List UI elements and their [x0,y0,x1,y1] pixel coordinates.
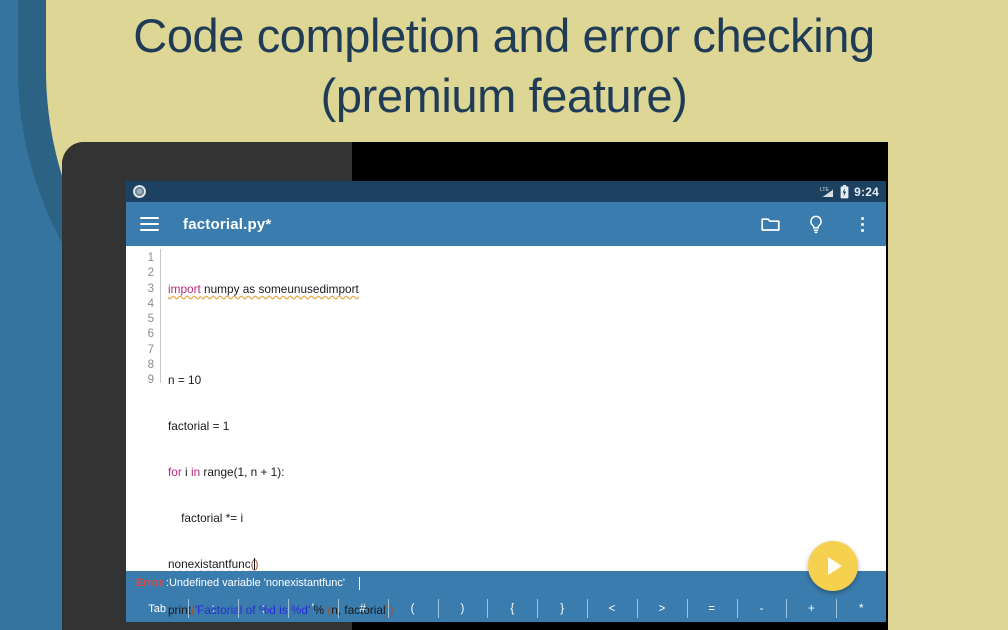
symbol-key-toolbar[interactable]: Tab : ; ' # ( ) { } < > = - + * [126,595,886,622]
camera-icon [133,185,146,198]
keyword-for: for [168,465,182,479]
app-bar-title: factorial.py* [183,216,271,233]
key-hash[interactable]: # [338,595,388,622]
lte-signal-icon: LTE [820,185,835,198]
code-line-6: factorial *= i [168,511,886,526]
folder-icon[interactable] [760,214,780,234]
undefined-function-token: nonexistantfunc [168,557,251,571]
headline-line-2: (premium feature) [0,66,1008,126]
code-line-1: import numpy as someunusedimport [168,282,886,297]
code-line-1-rest: numpy as someunusedimport [201,282,359,296]
play-icon [828,557,842,575]
screenshot-stage: Code completion and error checking (prem… [0,0,1008,630]
key-greater-than[interactable]: > [637,595,687,622]
error-bar-caret [359,577,360,590]
page-title: Code completion and error checking (prem… [0,6,1008,126]
line-number: 9 [126,373,154,388]
line-number-gutter: 1 2 3 4 5 6 7 8 9 [126,246,160,571]
code-line-7: nonexistantfunc() [168,557,886,572]
app-bar: factorial.py* [126,202,886,246]
code-text-area[interactable]: import numpy as someunusedimport ​ n = 1… [161,246,886,571]
key-minus[interactable]: - [737,595,787,622]
code-line-5: for i in range(1, n + 1): [168,465,886,480]
code-line-3: n = 10 [168,373,886,388]
error-status-bar: Error : Undefined variable 'nonexistantf… [126,571,886,595]
key-equals[interactable]: = [687,595,737,622]
headline-line-1: Code completion and error checking [133,9,874,62]
hamburger-menu-icon[interactable] [140,217,159,231]
key-brace-close[interactable]: } [537,595,587,622]
line-number: 1 [126,251,154,266]
line-number: 3 [126,282,154,297]
line-number: 2 [126,266,154,281]
key-apostrophe[interactable]: ' [288,595,338,622]
battery-charging-icon [840,185,849,199]
key-paren-open[interactable]: ( [388,595,438,622]
status-bar: LTE 9:24 [126,181,886,202]
key-semicolon[interactable]: ; [238,595,288,622]
key-paren-close[interactable]: ) [438,595,488,622]
key-brace-open[interactable]: { [487,595,537,622]
code-editor[interactable]: 1 2 3 4 5 6 7 8 9 import numpy as someun… [126,246,886,571]
background-khaki-right [888,0,1008,630]
key-plus[interactable]: + [786,595,836,622]
error-message: Undefined variable 'nonexistantfunc' [169,577,345,589]
line-number: 7 [126,343,154,358]
key-colon[interactable]: : [188,595,238,622]
key-asterisk[interactable]: * [836,595,886,622]
code-line-4: factorial = 1 [168,419,886,434]
line-number: 4 [126,297,154,312]
lightbulb-icon[interactable] [806,214,826,234]
error-label: Error [136,577,163,589]
keyword-in: in [191,465,200,479]
app-bar-actions [760,214,872,234]
code-line-5-var: i [182,465,191,479]
line-number: 8 [126,358,154,373]
code-line-5-rest: range(1, n + 1): [200,465,284,479]
line-number: 6 [126,327,154,342]
overflow-menu-icon[interactable] [852,214,872,234]
device-screen: LTE 9:24 factor [126,181,886,622]
keyword-import: import [168,282,201,296]
status-bar-right: LTE 9:24 [820,185,879,199]
paren-close: ) [255,557,259,571]
key-less-than[interactable]: < [587,595,637,622]
key-tab[interactable]: Tab [126,595,188,622]
status-bar-clock: 9:24 [854,185,879,199]
code-line-2: ​ [168,327,886,342]
run-button[interactable] [808,541,858,591]
line-number: 5 [126,312,154,327]
